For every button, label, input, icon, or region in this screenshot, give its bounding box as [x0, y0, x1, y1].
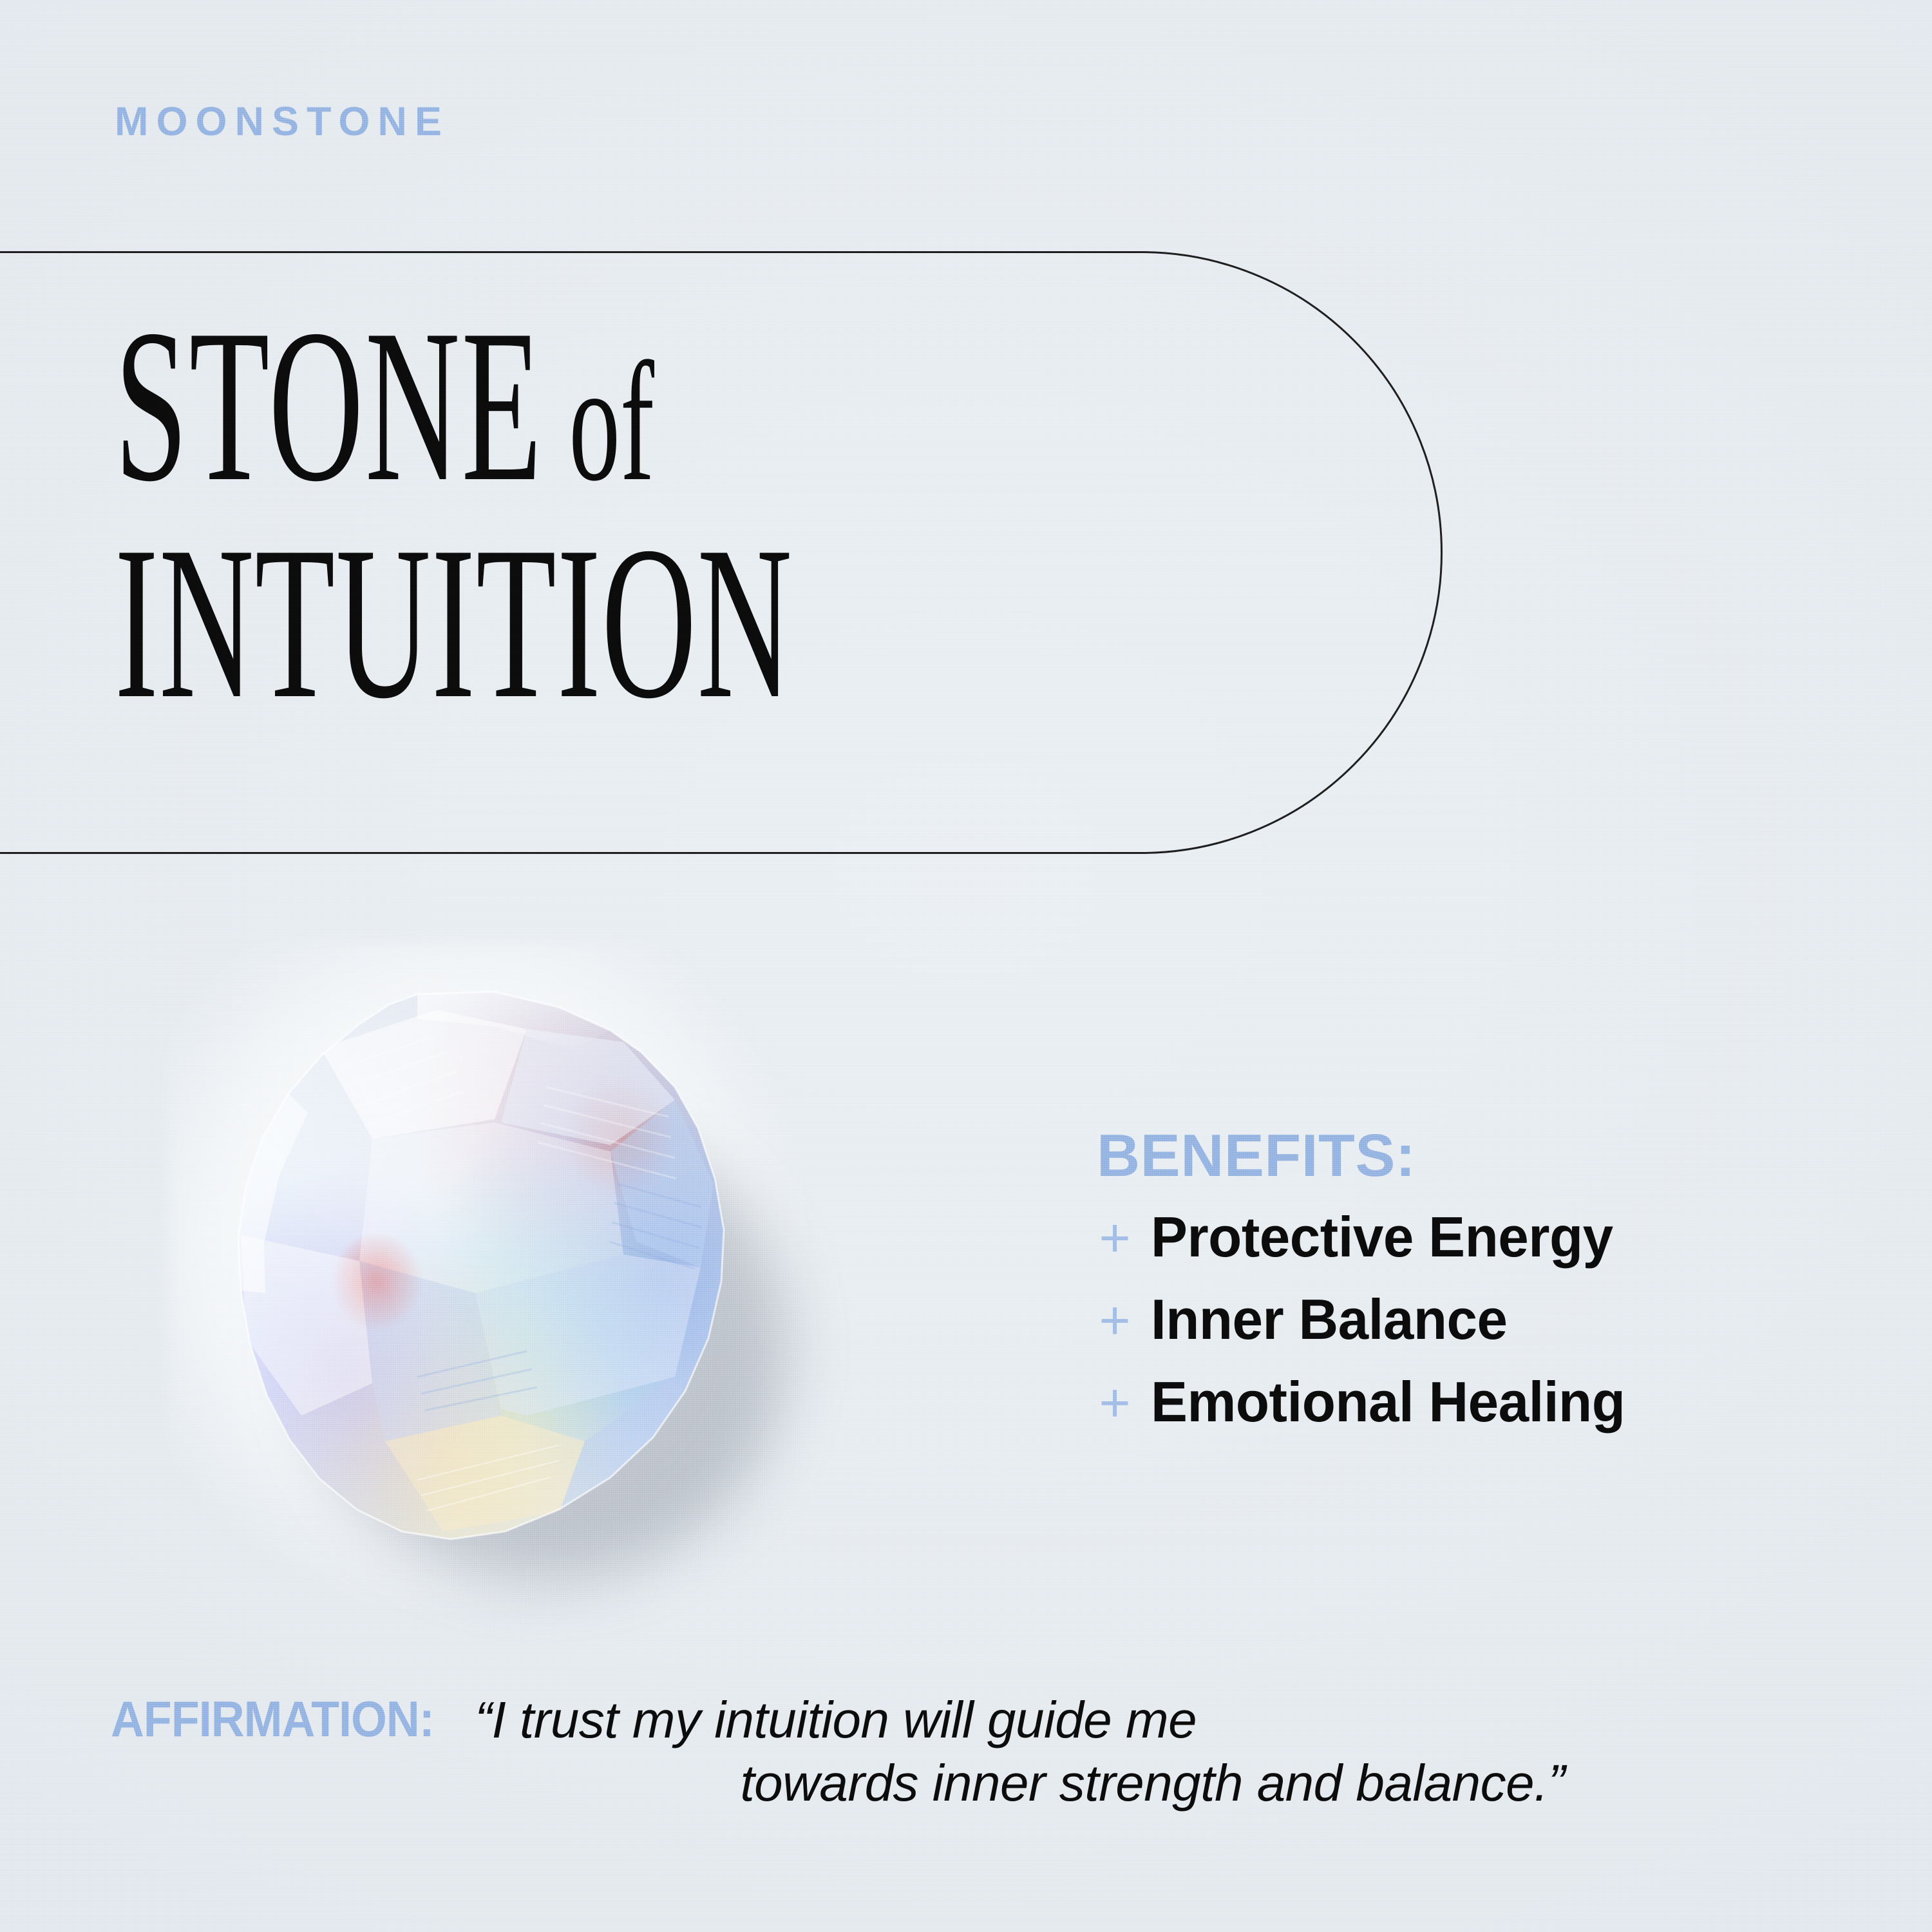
headline-stone-word: STONE — [115, 284, 544, 527]
benefit-item-0: + Protective Energy — [1097, 1209, 1818, 1287]
headline-of-text: of — [569, 328, 654, 516]
plus-icon: + — [1097, 1376, 1133, 1430]
plus-icon: + — [1097, 1211, 1133, 1265]
page-eyebrow-label: MOONSTONE — [115, 102, 450, 142]
affirmation-quote-line-1: “I trust my intuition will guide me — [475, 1689, 1830, 1752]
headline-line-1: STONE of — [115, 301, 793, 509]
benefit-label: Emotional Healing — [1151, 1374, 1625, 1430]
crystal-info-card: MOONSTONE STONE of INTUITION — [0, 0, 1932, 1932]
crystal-figure — [193, 966, 773, 1578]
plus-icon: + — [1097, 1293, 1133, 1347]
affirmation-section: AFFIRMATION: “I trust my intuition will … — [111, 1689, 1830, 1814]
benefits-section: BENEFITS: + Protective Energy + Inner Ba… — [1097, 1126, 1818, 1452]
headline-of-word — [544, 328, 569, 516]
affirmation-label: AFFIRMATION: — [111, 1689, 434, 1750]
affirmation-quote: “I trust my intuition will guide me towa… — [475, 1689, 1830, 1814]
benefit-label: Inner Balance — [1151, 1291, 1508, 1348]
benefit-label: Protective Energy — [1151, 1209, 1613, 1265]
affirmation-quote-line-2: towards inner strength and balance.” — [475, 1752, 1830, 1815]
benefits-heading: BENEFITS: — [1097, 1126, 1818, 1186]
page-title: STONE of INTUITION — [115, 301, 1245, 726]
headline-line-2: INTUITION — [115, 518, 793, 726]
moonstone-crystal-image — [224, 990, 733, 1551]
benefit-item-1: + Inner Balance — [1097, 1291, 1818, 1370]
benefit-item-2: + Emotional Healing — [1097, 1374, 1818, 1452]
